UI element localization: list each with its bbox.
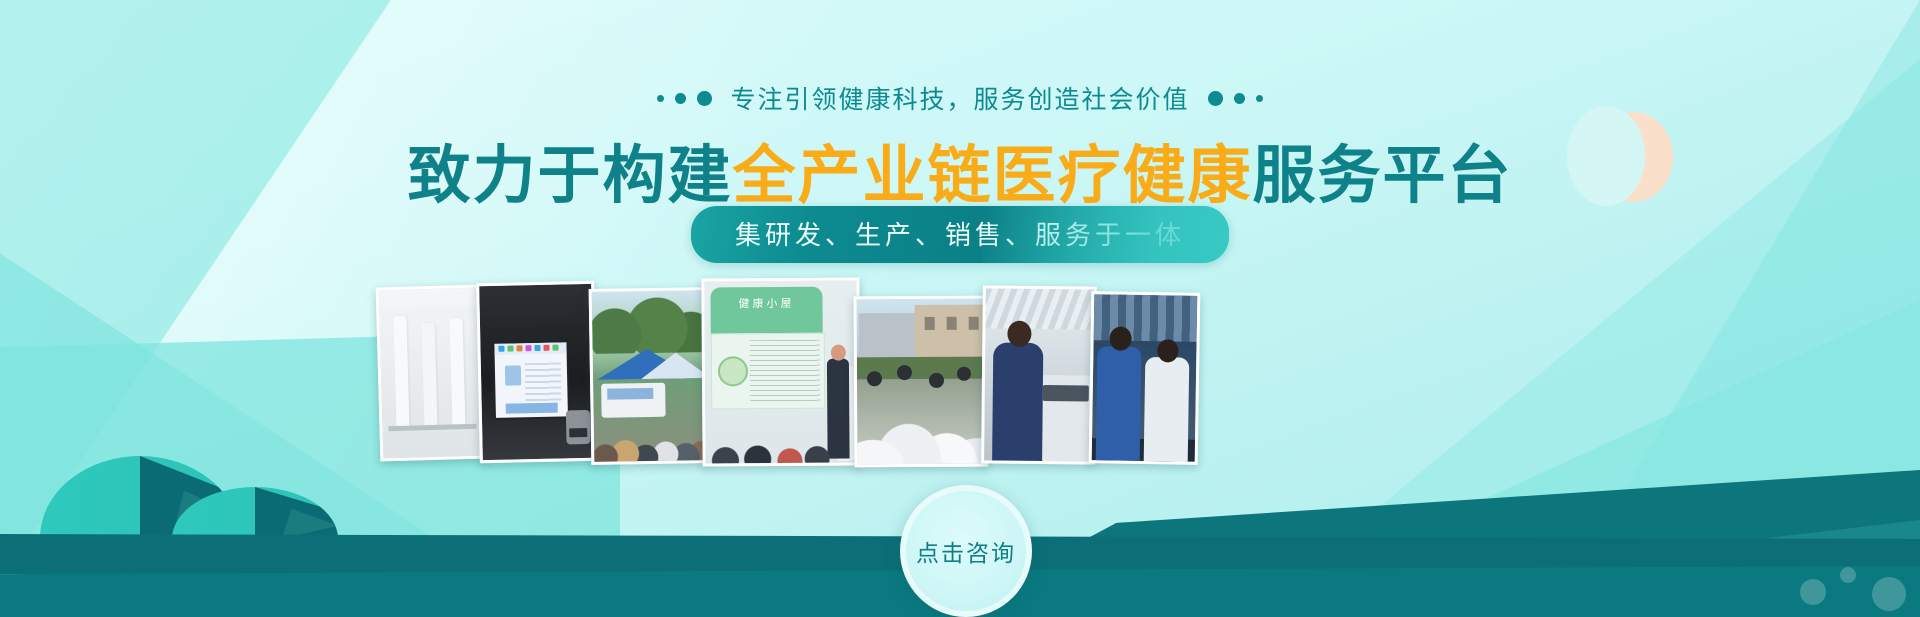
photo-art: 健康小屋 [704,280,857,463]
promo-banner: 专注引领健康科技，服务创造社会价值 致力于构建全产业链医疗健康服务平台 集研发、… [0,0,1920,617]
photo-art [479,284,595,460]
consult-button[interactable]: 点击咨询 [900,485,1032,617]
subheading-pill: 集研发、生产、销售、服务于一体 [691,206,1229,263]
photo-technician-console[interactable] [981,285,1097,464]
dot-medium-icon [1234,93,1245,104]
photo-outdoor-clinic-tent[interactable] [589,287,710,465]
headline: 致力于构建全产业链医疗健康服务平台 [0,125,1920,216]
photo-art [1092,294,1198,462]
eyebrow-dots-right [1208,91,1263,106]
photo-screening-monitor[interactable] [476,281,598,463]
photo-health-hut-booth[interactable]: 健康小屋 [701,277,860,466]
booth-sign-title: 健康小屋 [710,295,822,312]
photo-art [592,290,707,462]
photo-art [379,288,484,459]
subheading-row: 集研发、生产、销售、服务于一体 [0,206,1920,263]
bubble-3 [1872,577,1906,611]
photo-art [857,299,986,465]
headline-part-2: 全产业链医疗健康 [733,139,1253,212]
consult-button-label: 点击咨询 [916,534,1016,568]
photo-staff-equipment[interactable] [1089,291,1201,465]
mountain-dome [172,487,338,539]
dot-large-icon [697,91,712,106]
photo-art [984,288,1094,461]
dot-large-icon [1208,91,1223,106]
headline-part-3: 服务平台 [1253,139,1513,212]
bubble-2 [1840,567,1856,583]
eyebrow-dots-left [657,91,712,106]
photo-doctors-outdoors[interactable] [854,296,989,468]
dot-small-icon [1256,95,1263,102]
bubble-1 [1800,579,1826,605]
dot-small-icon [657,95,664,102]
mountain-shape-small [172,487,338,539]
photo-strip: 健康小屋 [378,278,1193,464]
eyebrow-tagline: 专注引领健康科技，服务创造社会价值 [730,80,1189,116]
eyebrow-row: 专注引领健康科技，服务创造社会价值 [0,80,1920,116]
dot-medium-icon [675,93,686,104]
headline-part-1: 致力于构建 [408,139,733,212]
photo-lab-equipment[interactable] [376,285,487,462]
